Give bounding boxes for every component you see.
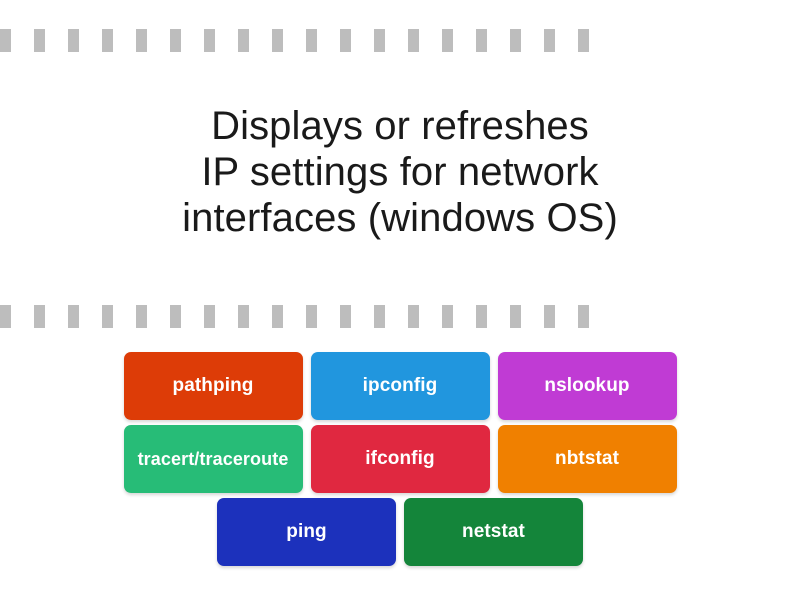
dash-mark <box>578 305 589 328</box>
dash-mark <box>476 29 487 52</box>
dash-mark <box>238 305 249 328</box>
dash-mark <box>272 29 283 52</box>
answer-row-3: ping netstat <box>0 498 800 566</box>
answer-tile-ipconfig[interactable]: ipconfig <box>311 352 490 420</box>
dash-mark <box>374 305 385 328</box>
dash-mark <box>544 305 555 328</box>
dash-mark <box>306 29 317 52</box>
answer-tile-nbtstat[interactable]: nbtstat <box>498 425 677 493</box>
dash-mark <box>68 305 79 328</box>
dash-mark <box>170 29 181 52</box>
dash-mark <box>510 305 521 328</box>
answer-tile-label: nbtstat <box>555 448 619 470</box>
dash-mark <box>136 305 147 328</box>
answer-tile-label: nslookup <box>544 375 629 397</box>
dash-mark <box>238 29 249 52</box>
dash-mark <box>102 29 113 52</box>
dash-mark <box>408 305 419 328</box>
answer-tile-label: ifconfig <box>365 448 434 470</box>
dash-mark <box>476 305 487 328</box>
dash-mark <box>374 29 385 52</box>
answer-tile-netstat[interactable]: netstat <box>404 498 583 566</box>
answer-row-1: pathping ipconfig nslookup <box>0 352 800 420</box>
answer-tile-label: tracert/traceroute <box>138 449 289 470</box>
answer-tile-tracert-traceroute[interactable]: tracert/traceroute <box>124 425 303 493</box>
answer-tile-ifconfig[interactable]: ifconfig <box>311 425 490 493</box>
dash-mark <box>136 29 147 52</box>
dashed-rule-middle <box>0 304 800 328</box>
dash-mark <box>0 305 11 328</box>
answer-tile-label: ping <box>286 521 327 543</box>
dash-mark <box>34 305 45 328</box>
dash-mark <box>306 305 317 328</box>
dash-mark <box>510 29 521 52</box>
quiz-card: Displays or refreshes IP settings for ne… <box>0 0 800 600</box>
dash-mark <box>170 305 181 328</box>
dash-mark <box>578 29 589 52</box>
answer-tile-label: netstat <box>462 521 525 543</box>
dash-mark <box>272 305 283 328</box>
dash-mark <box>442 305 453 328</box>
prompt-text: Displays or refreshes IP settings for ne… <box>0 103 800 241</box>
dash-mark <box>0 29 11 52</box>
dash-mark <box>102 305 113 328</box>
dash-mark <box>340 29 351 52</box>
dash-mark <box>544 29 555 52</box>
dash-mark <box>34 29 45 52</box>
dash-mark <box>442 29 453 52</box>
answer-tile-label: ipconfig <box>363 375 438 397</box>
dash-mark <box>340 305 351 328</box>
answer-tile-nslookup[interactable]: nslookup <box>498 352 677 420</box>
dashed-rule-top <box>0 28 800 52</box>
dash-mark <box>204 305 215 328</box>
dash-mark <box>408 29 419 52</box>
dash-mark <box>68 29 79 52</box>
answer-tile-ping[interactable]: ping <box>217 498 396 566</box>
answer-tile-label: pathping <box>172 375 253 397</box>
answer-row-2: tracert/traceroute ifconfig nbtstat <box>0 425 800 493</box>
dash-mark <box>204 29 215 52</box>
answer-tiles: pathping ipconfig nslookup tracert/trace… <box>0 352 800 571</box>
answer-tile-pathping[interactable]: pathping <box>124 352 303 420</box>
